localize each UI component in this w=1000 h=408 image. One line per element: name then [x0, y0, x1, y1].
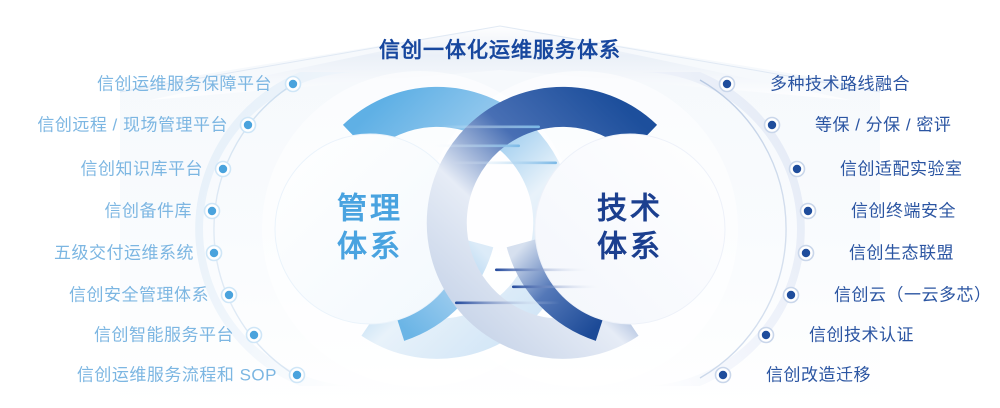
- speed-line-top-1: [440, 126, 540, 129]
- right-label-4[interactable]: 信创终端安全: [851, 203, 956, 220]
- right-label-5[interactable]: 信创生态联盟: [849, 245, 954, 262]
- left-label-7[interactable]: 信创智能服务平台: [94, 327, 234, 344]
- infographic-canvas: 信创一体化运维服务体系 管理 体系 技术 体系 信创运维服务保障平台信创远程 /…: [0, 0, 1000, 408]
- left-dot-5[interactable]: [210, 249, 218, 257]
- speed-line-top-2: [430, 145, 520, 148]
- right-dot-2[interactable]: [768, 121, 776, 129]
- left-ring-label-line2: 体系: [337, 229, 403, 267]
- page-title: 信创一体化运维服务体系: [0, 34, 1000, 64]
- right-label-1[interactable]: 多种技术路线融合: [770, 76, 910, 93]
- left-dot-3[interactable]: [219, 165, 227, 173]
- right-label-3[interactable]: 信创适配实验室: [840, 161, 963, 178]
- left-dot-7[interactable]: [250, 331, 258, 339]
- left-ring-center-label: 管理 体系: [337, 191, 403, 268]
- left-dot-4[interactable]: [208, 207, 216, 215]
- speed-line-bottom-3: [455, 302, 560, 305]
- right-ring-center-label: 技术 体系: [597, 191, 663, 268]
- right-dot-8[interactable]: [719, 371, 727, 379]
- right-label-8[interactable]: 信创改造迁移: [766, 367, 871, 384]
- right-connector-dots: [716, 77, 816, 383]
- right-ring-label-line2: 体系: [597, 229, 663, 267]
- left-label-5[interactable]: 五级交付运维系统: [54, 245, 194, 262]
- right-dot-3[interactable]: [793, 165, 801, 173]
- speed-line-top-3: [452, 162, 557, 165]
- right-dot-7[interactable]: [762, 331, 770, 339]
- right-label-7[interactable]: 信创技术认证: [809, 327, 914, 344]
- left-label-6[interactable]: 信创安全管理体系: [69, 287, 209, 304]
- right-dot-1[interactable]: [723, 80, 731, 88]
- right-label-6[interactable]: 信创云（一云多芯）: [834, 287, 992, 304]
- left-label-8[interactable]: 信创运维服务流程和 SOP: [77, 367, 277, 384]
- left-ring-label-line1: 管理: [337, 191, 403, 229]
- left-dot-6[interactable]: [225, 291, 233, 299]
- right-dot-4[interactable]: [804, 207, 812, 215]
- left-label-2[interactable]: 信创远程 / 现场管理平台: [37, 117, 228, 134]
- left-label-1[interactable]: 信创运维服务保障平台: [97, 76, 272, 93]
- left-dot-2[interactable]: [244, 121, 252, 129]
- speed-line-bottom-2: [512, 286, 604, 289]
- left-dot-8[interactable]: [293, 371, 301, 379]
- left-label-3[interactable]: 信创知识库平台: [81, 161, 204, 178]
- right-label-2[interactable]: 等保 / 分保 / 密评: [815, 117, 951, 134]
- speed-line-bottom-1: [495, 269, 595, 272]
- left-dot-1[interactable]: [289, 80, 297, 88]
- right-ring-label-line1: 技术: [597, 191, 663, 229]
- left-label-4[interactable]: 信创备件库: [105, 203, 193, 220]
- right-dot-5[interactable]: [802, 249, 810, 257]
- right-dot-6[interactable]: [787, 291, 795, 299]
